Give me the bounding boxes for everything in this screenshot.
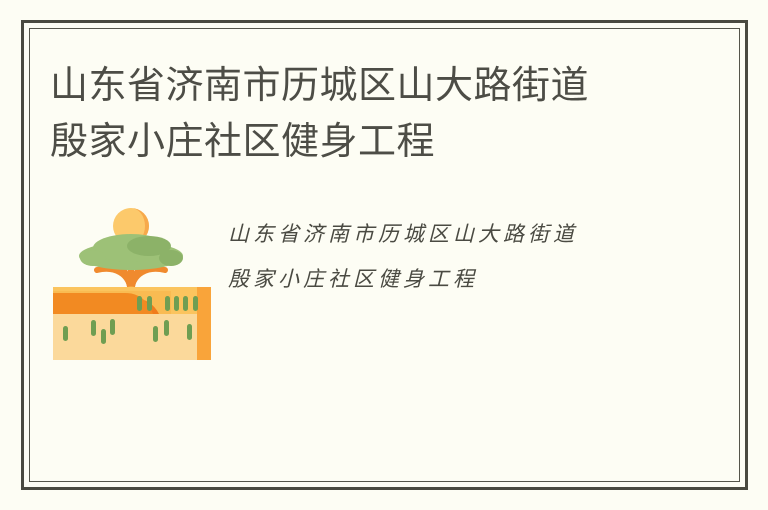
content-area: 山东省济南市历城区山大路街道 殷家小庄社区健身工程: [0, 0, 768, 510]
caption-line-1: 山东省济南市历城区山大路街道: [228, 212, 698, 257]
caption-block: 山东省济南市历城区山大路街道 殷家小庄社区健身工程: [228, 212, 698, 302]
page-title: 山东省济南市历城区山大路街道 殷家小庄社区健身工程: [50, 58, 690, 170]
title-line-1: 山东省济南市历城区山大路街道: [50, 58, 690, 114]
page-background: 山东省济南市历城区山大路街道 殷家小庄社区健身工程: [0, 0, 768, 510]
tree-canopy-icon: [79, 234, 183, 270]
caption-line-2: 殷家小庄社区健身工程: [228, 257, 698, 302]
title-line-2: 殷家小庄社区健身工程: [50, 114, 690, 170]
illustration-savanna-tree-scene: [53, 198, 213, 362]
